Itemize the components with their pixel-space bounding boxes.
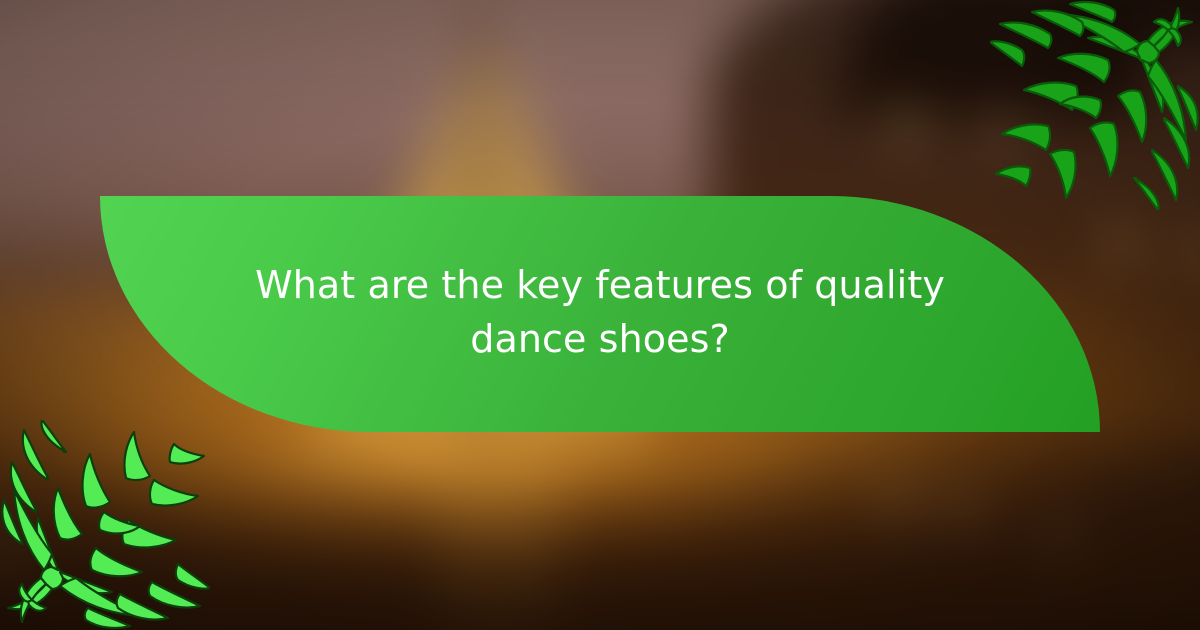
question-banner: What are the key features of quality dan… xyxy=(100,196,1100,432)
share-card-canvas: What are the key features of quality dan… xyxy=(0,0,1200,630)
banner-headline: What are the key features of quality dan… xyxy=(230,259,970,369)
